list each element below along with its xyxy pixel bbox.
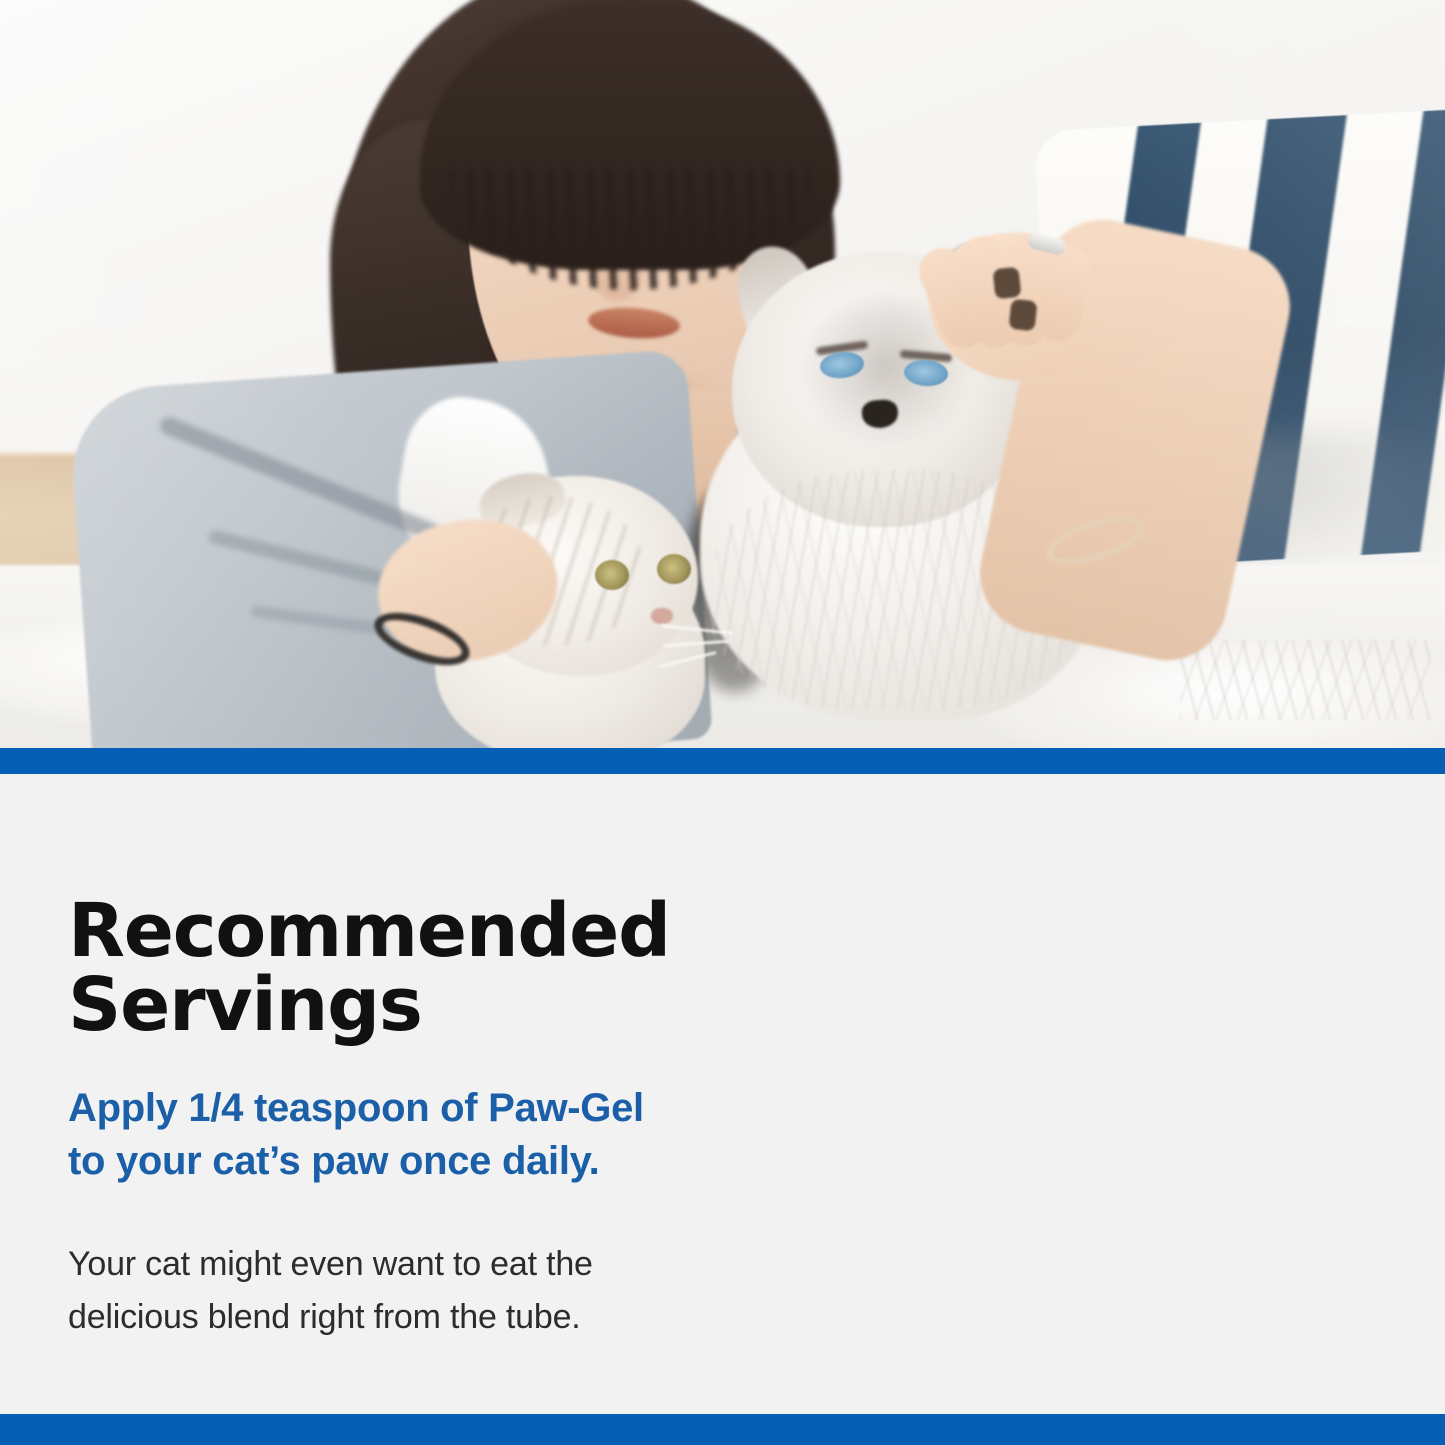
instruction-line-1: Apply 1/4 teaspoon of Paw-Gel bbox=[68, 1086, 644, 1130]
kitten-eye bbox=[657, 554, 691, 584]
fingernail bbox=[1009, 299, 1038, 332]
text-column: Recommended Servings Apply 1/4 teaspoon … bbox=[68, 894, 868, 1344]
page-title: Recommended Servings bbox=[68, 894, 868, 1042]
content-panel: Recommended Servings Apply 1/4 teaspoon … bbox=[0, 774, 1445, 1414]
body-line-2: delicious blend right from the tube. bbox=[68, 1298, 581, 1336]
kitten-nose bbox=[651, 608, 673, 624]
body-line-1: Your cat might even want to eat the bbox=[68, 1245, 593, 1283]
fingernail bbox=[993, 267, 1022, 300]
kitten-eye bbox=[595, 560, 629, 590]
hero-photo bbox=[0, 0, 1445, 748]
divider-bottom bbox=[0, 1414, 1445, 1445]
body-paragraph: Your cat might even want to eat the deli… bbox=[68, 1238, 768, 1343]
instruction-line-2: to your cat’s paw once daily. bbox=[68, 1139, 599, 1183]
product-infographic-page: Recommended Servings Apply 1/4 teaspoon … bbox=[0, 0, 1445, 1445]
divider-top bbox=[0, 748, 1445, 774]
duvet-texture bbox=[1180, 640, 1430, 720]
instruction-subheading: Apply 1/4 teaspoon of Paw-Gel to your ca… bbox=[68, 1082, 798, 1188]
